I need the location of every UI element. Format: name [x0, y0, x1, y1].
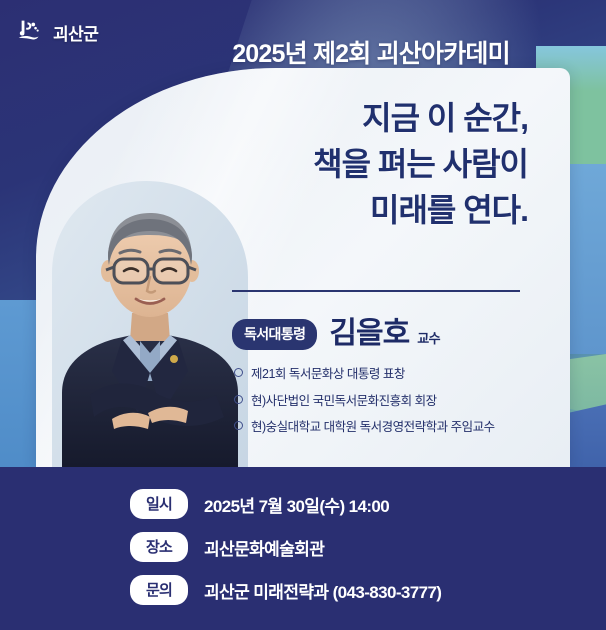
info-row-venue: 장소 괴산문화예술회관: [130, 532, 441, 562]
event-info-rows: 일시 2025년 7월 30일(수) 14:00 장소 괴산문화예술회관 문의 …: [130, 489, 441, 605]
info-value-venue: 괴산문화예술회관: [204, 535, 324, 560]
speaker-credentials: 제21회 독서문화상 대통령 표창 현)사단법인 국민독서문화진흥회 회장 현)…: [234, 368, 495, 448]
credential-text: 현)사단법인 국민독서문화진흥회 회장: [251, 395, 437, 408]
circle-bullet-icon: [234, 421, 243, 430]
headline-line-1: 지금 이 순간,: [196, 96, 528, 142]
headline-divider: [232, 290, 520, 292]
credential-item: 현)숭실대학교 대학원 독서경영전략학과 주임교수: [234, 421, 495, 434]
credential-item: 제21회 독서문화상 대통령 표창: [234, 368, 495, 381]
credential-item: 현)사단법인 국민독서문화진흥회 회장: [234, 395, 495, 408]
speaker-block: 독서대통령 김을호 교수: [232, 308, 440, 354]
banner-title: 2025년 제2회 괴산아카데미: [0, 34, 592, 70]
info-row-date: 일시 2025년 7월 30일(수) 14:00: [130, 489, 441, 519]
headline-line-2: 책을 펴는 사람이: [196, 142, 528, 188]
event-info-band: 일시 2025년 7월 30일(수) 14:00 장소 괴산문화예술회관 문의 …: [0, 467, 606, 630]
info-value-date: 2025년 7월 30일(수) 14:00: [204, 492, 389, 517]
event-poster: 괴산군 2025년 제2회 괴산아카데미: [0, 0, 606, 630]
info-label-venue: 장소: [130, 532, 188, 562]
headline-line-3: 미래를 연다.: [196, 188, 528, 234]
info-value-contact: 괴산군 미래전략과 (043-830-3777): [204, 578, 441, 603]
speaker-rank: 교수: [417, 328, 440, 347]
circle-bullet-icon: [234, 368, 243, 377]
info-label-contact: 문의: [130, 575, 188, 605]
info-row-contact: 문의 괴산군 미래전략과 (043-830-3777): [130, 575, 441, 605]
credential-text: 현)숭실대학교 대학원 독서경영전략학과 주임교수: [251, 421, 495, 434]
headline: 지금 이 순간, 책을 펴는 사람이 미래를 연다.: [196, 96, 528, 233]
credential-text: 제21회 독서문화상 대통령 표창: [251, 368, 405, 381]
info-label-date: 일시: [130, 489, 188, 519]
speaker-badge: 독서대통령: [232, 319, 317, 350]
circle-bullet-icon: [234, 395, 243, 404]
speaker-name: 김을호: [329, 308, 409, 352]
